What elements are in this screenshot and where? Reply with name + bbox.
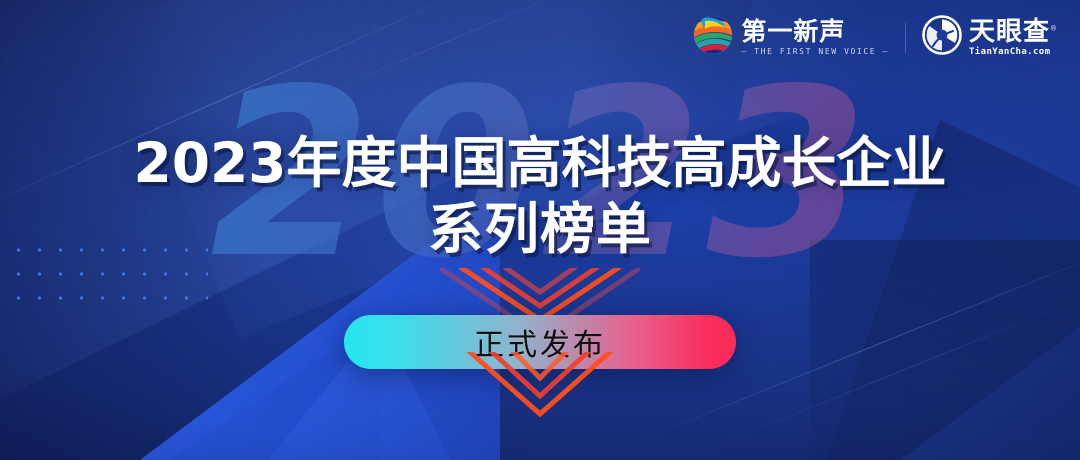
- logo-tianyancha-en: TianYanCha.com: [969, 48, 1058, 57]
- logo-tianyancha-text: 天眼查® TianYanCha.com: [969, 19, 1058, 57]
- header-logos: 第一新声 — THE FIRST NEW VOICE — 天眼查® Tian: [692, 14, 1058, 61]
- logo-tianyancha-cn-main: 天眼查: [969, 17, 1050, 47]
- trademark-symbol: ®: [1050, 24, 1058, 32]
- logo-tianyancha[interactable]: 天眼查® TianYanCha.com: [922, 15, 1058, 60]
- cta-wrapper: 正式发布: [344, 315, 736, 369]
- background-facets: [0, 0, 1080, 460]
- aperture-eye-icon: [922, 15, 962, 60]
- cta-label: 正式发布: [474, 320, 606, 364]
- dot-grid-icon: [8, 238, 208, 310]
- logo-diyixinsheng-cn: 第一新声: [741, 19, 889, 44]
- logo-tianyancha-cn: 天眼查®: [969, 19, 1058, 45]
- swirl-globe-icon: [692, 14, 734, 61]
- logo-diyixinsheng-text: 第一新声 — THE FIRST NEW VOICE —: [741, 19, 889, 56]
- poster-canvas: 2023: [0, 0, 1080, 460]
- logo-diyixinsheng[interactable]: 第一新声 — THE FIRST NEW VOICE —: [692, 14, 889, 61]
- official-release-button[interactable]: 正式发布: [344, 315, 736, 369]
- logo-divider: [905, 23, 906, 53]
- logo-diyixinsheng-en: — THE FIRST NEW VOICE —: [741, 48, 889, 56]
